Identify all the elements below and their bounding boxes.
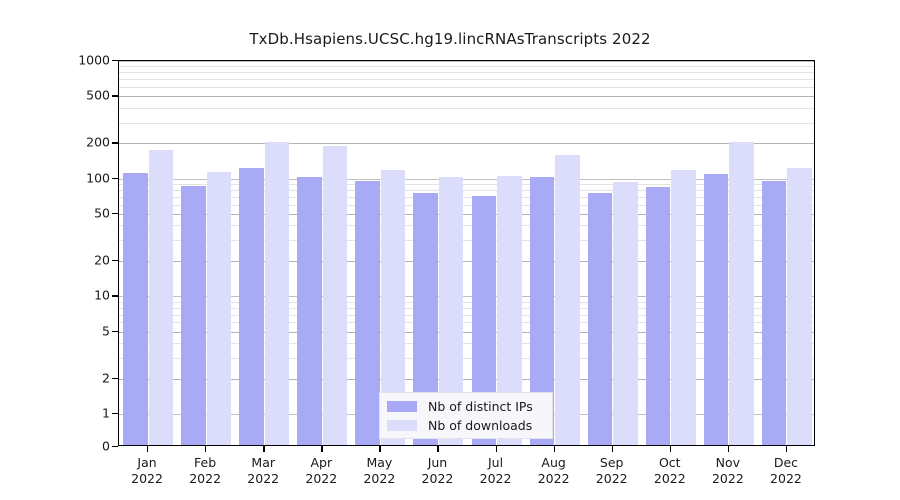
bar-downloads	[671, 170, 696, 445]
y-tick-label: 10	[64, 288, 110, 303]
bar-downloads	[149, 150, 174, 445]
chart-title: TxDb.Hsapiens.UCSC.hg19.lincRNAsTranscri…	[0, 30, 900, 48]
x-tick-label: Dec2022	[746, 455, 826, 486]
legend-item-ips: Nb of distinct IPs	[387, 397, 545, 416]
y-tick-mark	[112, 413, 118, 414]
y-tick-label: 100	[64, 170, 110, 185]
bar-downloads	[323, 146, 348, 445]
bar-ips	[123, 173, 148, 445]
y-tick-mark	[112, 446, 118, 447]
x-tick-mark	[437, 446, 438, 452]
bar-ips	[181, 186, 206, 445]
bar-ips	[239, 168, 264, 445]
bar-ips	[297, 177, 322, 445]
x-tick-mark	[728, 446, 729, 452]
y-tick-label: 50	[64, 206, 110, 221]
y-tick-mark	[112, 60, 118, 61]
bar-downloads	[613, 182, 638, 446]
x-tick-mark	[554, 446, 555, 452]
x-tick-label-line: Dec	[746, 455, 826, 471]
legend-label-downloads: Nb of downloads	[428, 418, 532, 433]
y-tick-label: 500	[64, 88, 110, 103]
x-tick-mark	[147, 446, 148, 452]
bar-ips	[646, 187, 671, 445]
bar-ips	[588, 193, 613, 445]
y-tick-mark	[112, 142, 118, 143]
y-tick-label: 0	[64, 439, 110, 454]
y-axis: 01251020501002005001000	[58, 0, 110, 500]
bars-layer	[119, 61, 814, 445]
legend-label-ips: Nb of distinct IPs	[428, 399, 533, 414]
bar-ips	[762, 181, 787, 445]
y-tick-label: 5	[64, 323, 110, 338]
chart-legend: Nb of distinct IPs Nb of downloads	[379, 392, 553, 439]
x-tick-mark	[670, 446, 671, 452]
y-tick-mark	[112, 295, 118, 296]
bar-downloads	[265, 142, 290, 445]
legend-swatch-downloads	[387, 420, 417, 431]
plot-area	[118, 60, 815, 446]
y-tick-label: 1000	[64, 53, 110, 68]
y-tick-mark	[112, 213, 118, 214]
bar-downloads	[555, 155, 580, 445]
y-tick-label: 2	[64, 370, 110, 385]
y-tick-mark	[112, 331, 118, 332]
x-tick-mark	[612, 446, 613, 452]
y-tick-mark	[112, 178, 118, 179]
x-tick-mark	[263, 446, 264, 452]
bar-downloads	[787, 168, 812, 445]
x-tick-mark	[379, 446, 380, 452]
bar-downloads	[207, 172, 232, 445]
y-tick-mark	[112, 260, 118, 261]
y-tick-label: 1	[64, 405, 110, 420]
legend-item-downloads: Nb of downloads	[387, 416, 545, 435]
chart-figure: TxDb.Hsapiens.UCSC.hg19.lincRNAsTranscri…	[0, 0, 900, 500]
y-tick-label: 200	[64, 135, 110, 150]
bar-ips	[704, 174, 729, 445]
legend-swatch-ips	[387, 401, 417, 412]
x-tick-mark	[496, 446, 497, 452]
x-tick-mark	[205, 446, 206, 452]
x-tick-label-line: 2022	[746, 471, 826, 487]
x-tick-mark	[321, 446, 322, 452]
bar-ips	[355, 181, 380, 445]
y-tick-label: 20	[64, 252, 110, 267]
bar-downloads	[729, 142, 754, 445]
y-tick-mark	[112, 95, 118, 96]
x-tick-mark	[786, 446, 787, 452]
y-tick-mark	[112, 378, 118, 379]
